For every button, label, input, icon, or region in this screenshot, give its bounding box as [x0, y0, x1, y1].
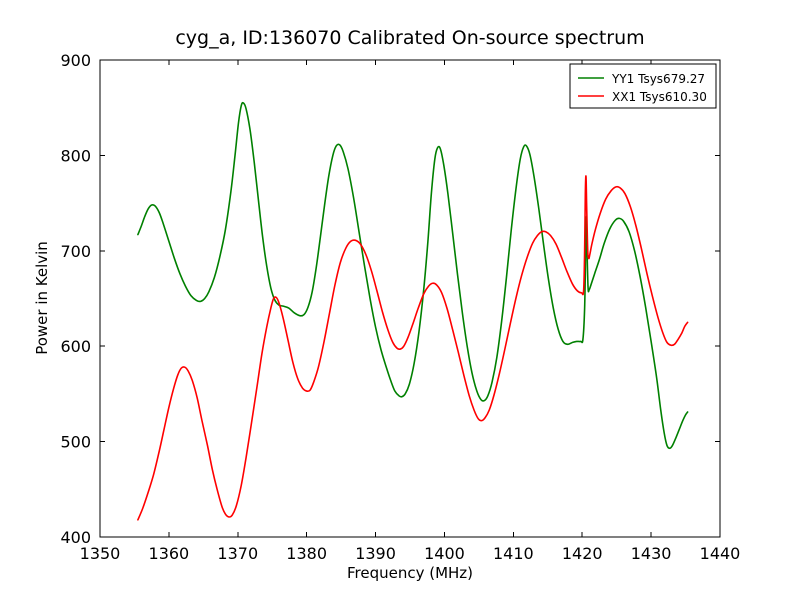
x-tick-label: 1370 — [217, 544, 258, 563]
figure-canvas: 1350136013701380139014001410142014301440… — [0, 0, 800, 600]
y-tick-label: 800 — [60, 146, 91, 165]
y-tick-label: 400 — [60, 528, 91, 547]
y-tick-label: 600 — [60, 337, 91, 356]
x-axis-label: Frequency (MHz) — [347, 564, 473, 582]
legend-label-yy1: YY1 Tsys679.27 — [611, 72, 705, 86]
y-tick-label: 500 — [60, 433, 91, 452]
legend-label-xx1: XX1 Tsys610.30 — [612, 90, 707, 104]
x-tick-label: 1380 — [286, 544, 327, 563]
x-tick-label: 1390 — [355, 544, 396, 563]
x-tick-label: 1440 — [700, 544, 741, 563]
y-tick-label: 900 — [60, 51, 91, 70]
y-tick-label: 700 — [60, 242, 91, 261]
y-axis-label: Power in Kelvin — [33, 241, 51, 355]
x-tick-label: 1420 — [562, 544, 603, 563]
page-title: cyg_a, ID:136070 Calibrated On-source sp… — [175, 27, 644, 49]
spectrum-chart[interactable]: 1350136013701380139014001410142014301440… — [0, 0, 800, 600]
x-tick-label: 1430 — [631, 544, 672, 563]
x-tick-label: 1400 — [424, 544, 465, 563]
x-tick-label: 1360 — [149, 544, 190, 563]
x-tick-label: 1410 — [493, 544, 534, 563]
legend[interactable]: YY1 Tsys679.27 XX1 Tsys610.30 — [570, 64, 716, 108]
